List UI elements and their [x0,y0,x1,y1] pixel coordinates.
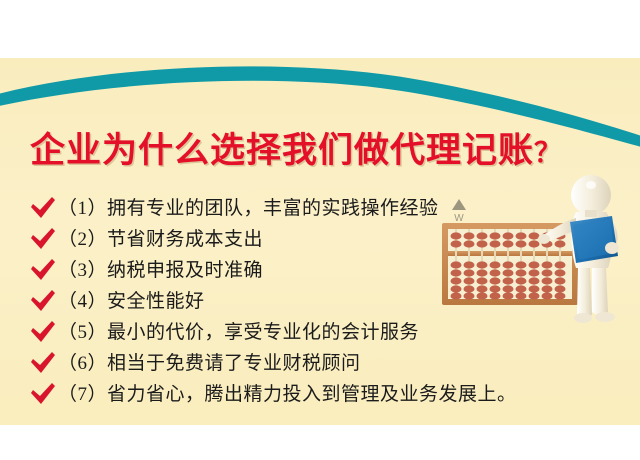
white-bottom-strip [0,425,640,460]
check-icon [30,320,56,344]
list-item-text: 节省财务成本支出 [107,224,263,255]
list-item-text: 相当于免费请了专业财税顾问 [107,348,361,379]
check-icon [30,227,56,251]
poster-canvas: 企业为什么选择我们做代理记账？ （1）拥有专业的团队，丰富的实践操作经验 （2）… [0,0,640,460]
list-item-text: 安全性能好 [107,286,205,317]
list-item-number: （4） [58,286,107,317]
illustration-abacus-accountant [440,160,640,340]
check-icon [30,196,56,220]
list-item-number: （2） [58,224,107,255]
list-item: （6）相当于免费请了专业财税顾问 [30,348,530,379]
list-item: （7）省力省心，腾出精力投入到管理及业务发展上。 [30,379,530,410]
blue-book-icon [570,216,618,263]
list-item-number: （7） [58,379,107,410]
check-icon [30,351,56,375]
list-item-text: 省力省心，腾出精力投入到管理及业务发展上。 [107,379,517,410]
list-item-number: （1） [58,193,107,224]
white-top-strip [0,0,640,58]
list-item-text: 纳税申报及时准确 [107,255,263,286]
check-icon [30,258,56,282]
check-icon [30,382,56,406]
list-item-text: 最小的代价，享受专业化的会计服务 [107,317,419,348]
list-item-number: （6） [58,348,107,379]
list-item-number: （5） [58,317,107,348]
list-item-number: （3） [58,255,107,286]
check-icon [30,289,56,313]
list-item-text: 拥有专业的团队，丰富的实践操作经验 [107,193,439,224]
